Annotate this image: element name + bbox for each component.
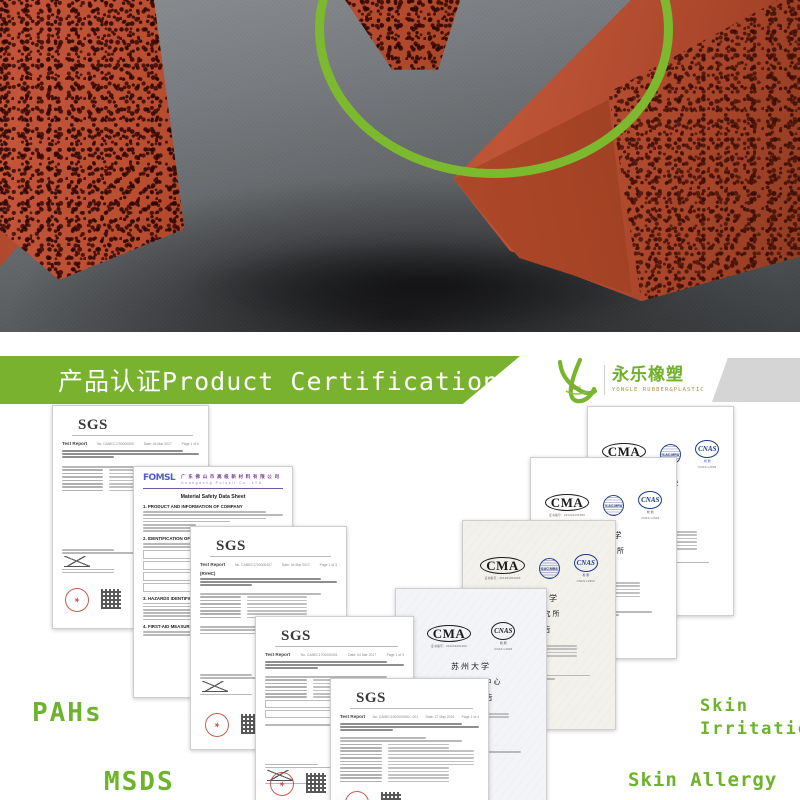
official-stamp-icon [65,588,89,612]
page-title: 产品认证Product Certification [58,362,499,398]
report-subtitle: (RVHC) [200,571,337,576]
logo-divider [604,365,605,395]
accreditation-marks: CMA 证书编号：201201001000 ILAC-MRA CNAS 检 测 … [472,554,606,583]
cma-caption: 证书编号：201201001000 [431,644,467,648]
section-banner: 产品认证Product Certification [0,356,520,404]
cma-caption: 证书编号：201201001000 [484,576,520,580]
msds-company-cn: 广东佛山市高级新材料有限公司 [181,474,283,480]
signature [202,681,228,692]
qr-code-icon [306,773,326,793]
report-page: Page 1 of 3 [320,563,337,567]
report-date: Date: 04 Mar 2017 [144,442,172,446]
label-skin-allergy: Skin Allergy [628,769,777,791]
report-ref: No. CANEC1900000000 - 001 [373,715,419,719]
certification-page: 产品认证Product Certification 永 乐 永乐橡塑 YONGL… [0,0,800,800]
cnas-id: CNAS L2904 [494,647,512,651]
msds-title: Material Safety Data Sheet [143,494,283,500]
certificate-org: 苏州大学 [405,661,537,672]
label-skin-irritation-line1: Skin [700,696,749,716]
official-stamp-icon [205,713,229,737]
report-ref: No. CANEC1700000401 [301,653,338,657]
qr-code-icon [101,589,121,609]
sgs-logo: SGS [281,628,404,645]
ilac-mra-icon: ILAC-MRA [539,558,560,579]
cma-icon: CMA [480,557,525,574]
report-page: Page 1 of 4 [462,715,479,719]
yongle-leaf-mark-icon: 永 乐 [550,355,602,405]
cnas-caption: 检 测 [500,641,506,645]
report-ref: No. CANEC1700000407 [235,563,272,567]
cnas-caption: 检 测 [704,459,710,463]
report-page: Page 1 of 3 [387,653,404,657]
cnas-icon: CNAS [574,554,598,572]
ilac-mra-icon: ILAC-MRA [603,495,624,516]
cma-icon: CMA [427,625,472,642]
qr-code-icon [381,792,401,800]
official-stamp-icon [345,791,369,800]
product-photo [0,0,800,332]
cnas-icon: CNAS [638,491,662,509]
cnas-icon: CNAS [491,622,515,640]
report-date: Date: 27 May 2019 [426,715,455,719]
cnas-caption: 检 测 [647,510,653,514]
cnas-id: CNAS L2904 [698,465,716,469]
label-pahs: PAHs [32,698,103,728]
official-stamp-icon [270,772,294,796]
sgs-logo: SGS [216,538,337,555]
report-title: Test Report [265,652,290,657]
cnas-id: CNAS L2904 [641,516,659,520]
label-msds: MSDS [104,767,175,797]
svg-text:永 乐: 永 乐 [570,385,582,392]
brand-name-cn: 永乐橡塑 [612,367,705,385]
sgs-logo: SGS [356,690,479,707]
signature [64,556,90,567]
brand-name-en: YONGLE RUBBER&PLASTIC [612,387,705,393]
report-ref: No. CANEC1700000000 [97,442,134,446]
cnas-caption: 检 测 [583,573,589,577]
sponge-strip-left [0,0,290,310]
msds-company-en: Guangdong Polysil Co.,LTD [181,481,283,485]
report-date: Date: 04 Mar 2017 [348,653,376,657]
cma-icon: CMA [545,494,590,511]
cnas-icon: CNAS [695,440,719,458]
msds-section-1: 1. PRODUCT AND INFORMATION OF COMPANY [143,504,283,509]
accreditation-marks: CMA 证书编号：201201001000 CNAS 检 测 CNAS L290… [405,622,537,651]
report-page: Page 1 of 6 [182,442,199,446]
certificate-collage: CMA 证书编号：201201001000 ILAC-MRA CNAS 检 测 … [0,408,800,800]
report-title: Test Report [200,562,225,567]
gray-accent-shape [712,358,800,402]
sgs-logo: SGS [78,417,199,434]
report-date: Date: 04 Mar 2017 [282,563,310,567]
certification-section: 产品认证Product Certification 永 乐 永乐橡塑 YONGL… [0,332,800,800]
section-header-row: 产品认证Product Certification 永 乐 永乐橡塑 YONGL… [0,356,800,404]
label-skin-irritation-line2: Irritation [700,719,800,739]
fomsl-logo: FOMSL [143,474,175,483]
document-sgs-4[interactable]: SGS Test Report No. CANEC1900000000 - 00… [330,678,489,800]
accreditation-marks: CMA 证书编号：201201001000 ILAC-MRA CNAS 检 测 … [540,491,667,520]
cma-caption: 证书编号：201201001000 [549,513,585,517]
report-title: Test Report [340,714,365,719]
report-title: Test Report [62,441,87,446]
brand-logo[interactable]: 永 乐 永乐橡塑 YONGLE RUBBER&PLASTIC [550,354,715,406]
cnas-id: CNAS L2904 [577,579,595,583]
